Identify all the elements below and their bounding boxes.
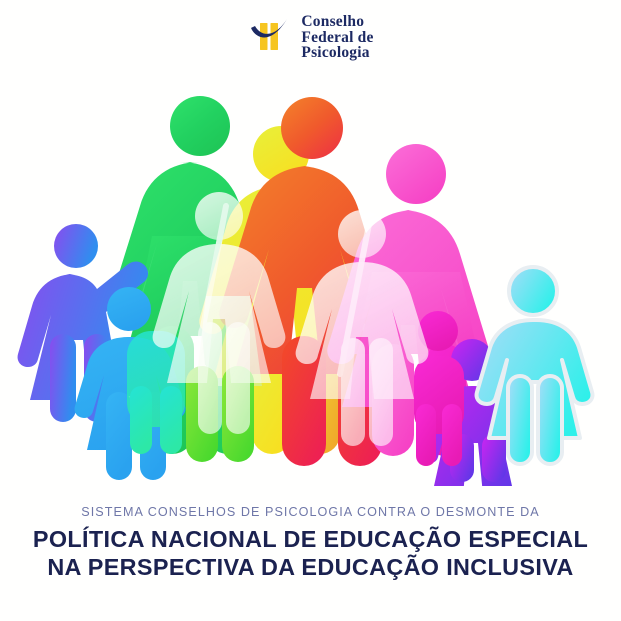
poster-canvas: Conselho Federal de Psicologia bbox=[0, 0, 621, 621]
logo-wordmark: Conselho Federal de Psicologia bbox=[301, 14, 373, 61]
headline-line-2: NA PERSPECTIVA DA EDUCAÇÃO INCLUSIVA bbox=[0, 554, 621, 582]
poster-headline: POLÍTICA NACIONAL DE EDUCAÇÃO ESPECIAL N… bbox=[0, 526, 621, 581]
logo-block: Conselho Federal de Psicologia bbox=[0, 14, 621, 61]
poster-titles: SISTEMA CONSELHOS DE PSICOLOGIA CONTRA O… bbox=[0, 504, 621, 581]
logo-line-3: Psicologia bbox=[301, 45, 373, 61]
logo-line-2: Federal de bbox=[301, 30, 373, 46]
logo-line-1: Conselho bbox=[301, 14, 373, 30]
inclusive-people-group-illustration bbox=[0, 86, 621, 486]
poster-eyebrow: SISTEMA CONSELHOS DE PSICOLOGIA CONTRA O… bbox=[0, 504, 621, 520]
figure-child-cyan-right bbox=[477, 267, 593, 464]
headline-line-1: POLÍTICA NACIONAL DE EDUCAÇÃO ESPECIAL bbox=[33, 526, 588, 552]
cfp-mark-icon bbox=[247, 14, 293, 60]
